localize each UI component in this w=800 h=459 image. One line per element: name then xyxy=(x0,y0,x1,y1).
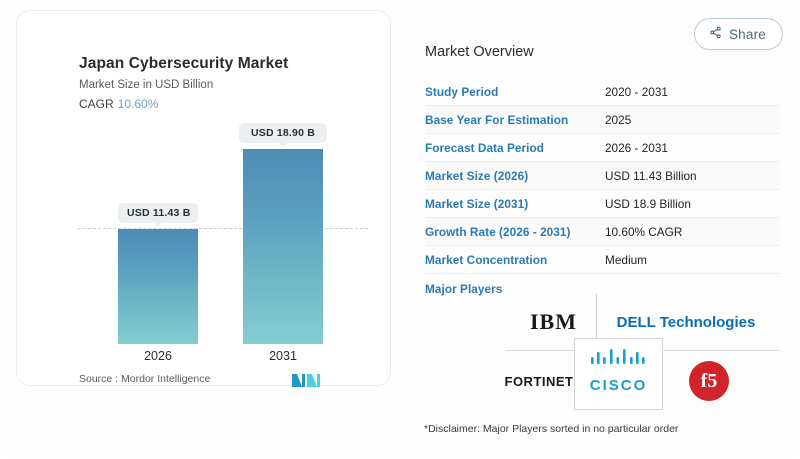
row-value: 2026 - 2031 xyxy=(605,141,668,155)
cisco-bars-icon xyxy=(574,344,663,372)
table-row: Forecast Data Period 2026 - 2031 xyxy=(425,134,780,162)
dell-logo-text: DELL Technologies xyxy=(617,314,756,331)
share-nodes-icon xyxy=(709,26,722,42)
row-value: 10.60% CAGR xyxy=(605,225,682,239)
f5-circle-icon: f5 xyxy=(689,361,729,401)
market-overview-panel: Market Overview Study Period 2020 - 2031… xyxy=(425,44,780,304)
logo-fortinet: FORTINET xyxy=(506,356,572,406)
table-row: Market Size (2031) USD 18.9 Billion xyxy=(425,190,780,218)
row-key: Market Size (2031) xyxy=(425,197,605,211)
x-axis-label-2026: 2026 xyxy=(113,349,203,363)
fortinet-logo-text: FORTINET xyxy=(505,374,574,389)
source-label: Source : Mordor Intelligence xyxy=(79,373,210,385)
table-row: Growth Rate (2026 - 2031) 10.60% CAGR xyxy=(425,218,780,246)
chart-card: Japan Cybersecurity Market Market Size i… xyxy=(16,10,391,386)
major-players-logos: IBM DELL Technologies FORTINET xyxy=(498,292,788,410)
table-row: Market Size (2026) USD 11.43 Billion xyxy=(425,162,780,190)
cisco-logo-text: CISCO xyxy=(590,377,648,394)
row-value: Medium xyxy=(605,253,647,267)
row-key: Market Size (2026) xyxy=(425,169,605,183)
overview-table: Study Period 2020 - 2031 Base Year For E… xyxy=(425,78,780,304)
row-key: Base Year For Estimation xyxy=(425,113,605,127)
row-value: 2025 xyxy=(605,113,631,127)
row-key: Market Concentration xyxy=(425,253,605,267)
bar-label-2031: USD 18.90 B xyxy=(239,123,327,143)
market-summary-card: Share Japan Cybersecurity Market Market … xyxy=(0,0,800,459)
table-row: Study Period 2020 - 2031 xyxy=(425,78,780,106)
ibm-logo-text: IBM xyxy=(530,309,577,335)
logo-cisco: CISCO xyxy=(574,372,663,398)
disclaimer-text: *Disclaimer: Major Players sorted in no … xyxy=(424,423,678,435)
logo-f5: f5 xyxy=(674,356,744,406)
bar-2026[interactable] xyxy=(118,229,198,344)
share-button[interactable]: Share xyxy=(694,18,783,50)
table-row: Market Concentration Medium xyxy=(425,246,780,274)
bar-2031[interactable] xyxy=(243,149,323,344)
row-value: 2020 - 2031 xyxy=(605,85,668,99)
row-value: USD 18.9 Billion xyxy=(605,197,691,211)
bar-label-2026: USD 11.43 B xyxy=(118,203,198,223)
row-value: USD 11.43 Billion xyxy=(605,169,697,183)
x-axis-label-2031: 2031 xyxy=(238,349,328,363)
table-row: Base Year For Estimation 2025 xyxy=(425,106,780,134)
f5-logo-text: f5 xyxy=(701,370,718,393)
row-key: Growth Rate (2026 - 2031) xyxy=(425,225,605,239)
row-key: Forecast Data Period xyxy=(425,141,605,155)
share-label: Share xyxy=(729,27,766,42)
bar-chart-plot: USD 11.43 B 2026 USD 18.90 B 2031 xyxy=(17,11,392,387)
row-key: Study Period xyxy=(425,85,605,99)
mordor-intelligence-logo xyxy=(292,373,322,387)
